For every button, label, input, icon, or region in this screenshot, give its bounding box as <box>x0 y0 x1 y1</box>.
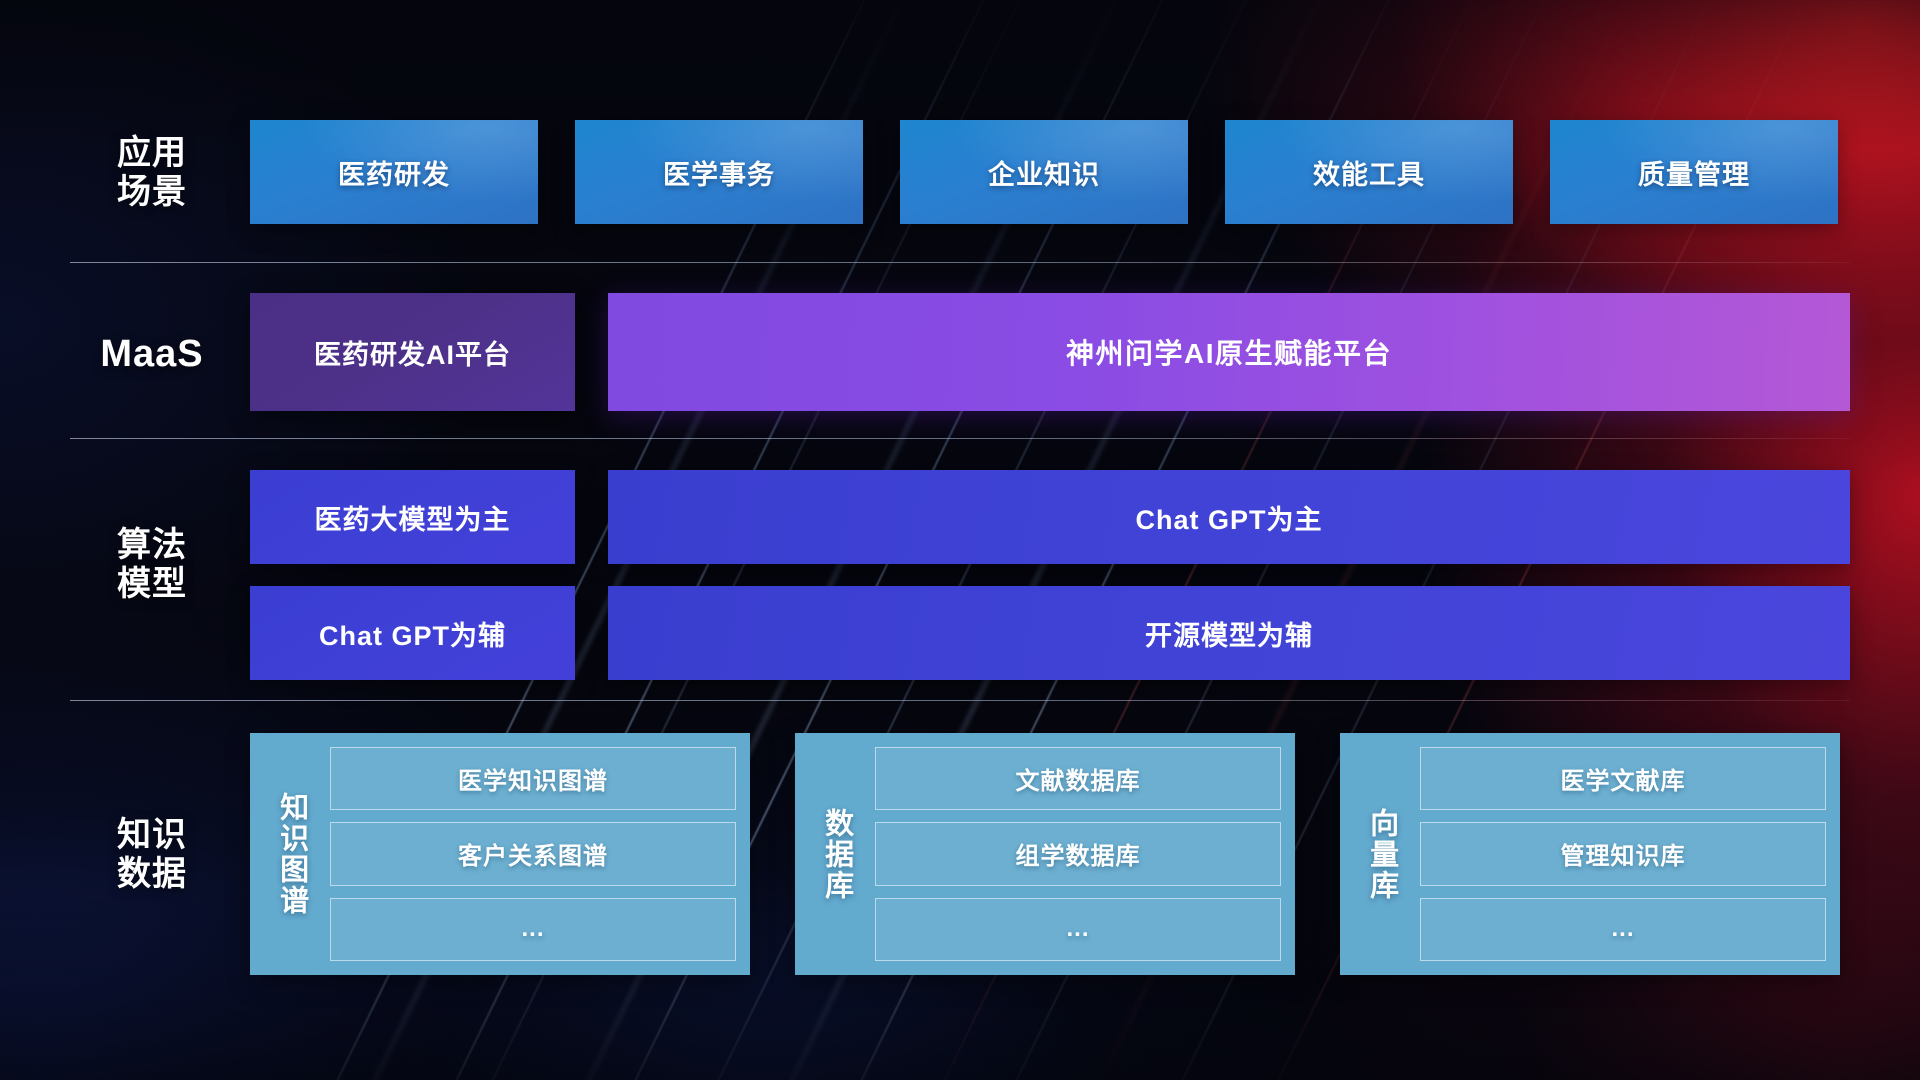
knowledge-item-list: 医学知识图谱 客户关系图谱 ... <box>330 747 736 961</box>
algorithm-box-opensource-secondary[interactable]: 开源模型为辅 <box>608 586 1850 680</box>
maas-box-label: 医药研发AI平台 <box>314 333 511 372</box>
layer-label-application-line1: 应用 <box>117 134 187 173</box>
layer-label-algorithm-line2: 模型 <box>117 565 187 604</box>
algorithm-row-secondary: Chat GPT为辅 开源模型为辅 <box>250 586 1850 680</box>
maas-row: 医药研发AI平台 神州问学AI原生赋能平台 <box>250 293 1850 411</box>
layer-label-knowledge: 知识 数据 <box>92 800 212 910</box>
knowledge-item[interactable]: 医学知识图谱 <box>330 747 736 810</box>
algorithm-box-chatgpt-secondary[interactable]: Chat GPT为辅 <box>250 586 575 680</box>
algorithm-box-label: Chat GPT为辅 <box>319 614 506 653</box>
knowledge-group-vector-store[interactable]: 向量库 医学文献库 管理知识库 ... <box>1340 733 1840 975</box>
knowledge-item-list: 医学文献库 管理知识库 ... <box>1420 747 1826 961</box>
layer-label-application-line2: 场景 <box>117 173 187 212</box>
algorithm-box-label: 开源模型为辅 <box>1145 614 1313 653</box>
knowledge-item[interactable]: ... <box>330 898 736 961</box>
divider-algorithm-knowledge <box>70 700 1850 701</box>
algorithm-box-medicine-llm-primary[interactable]: 医药大模型为主 <box>250 470 575 564</box>
app-box-label: 医学事务 <box>663 153 775 192</box>
knowledge-item[interactable]: 组学数据库 <box>875 822 1281 885</box>
layer-label-algorithm: 算法 模型 <box>92 510 212 620</box>
layer-label-algorithm-line1: 算法 <box>117 526 187 565</box>
knowledge-group-label: 向量库 <box>1350 747 1412 961</box>
algorithm-box-chatgpt-primary[interactable]: Chat GPT为主 <box>608 470 1850 564</box>
maas-box-shenzhou-wenxue-platform[interactable]: 神州问学AI原生赋能平台 <box>608 293 1850 411</box>
knowledge-item[interactable]: 客户关系图谱 <box>330 822 736 885</box>
knowledge-group-label: 知识图谱 <box>260 747 322 961</box>
app-box-medical-affairs[interactable]: 医学事务 <box>575 120 863 224</box>
app-box-efficiency-tools[interactable]: 效能工具 <box>1225 120 1513 224</box>
algorithm-row-primary: 医药大模型为主 Chat GPT为主 <box>250 470 1850 564</box>
app-box-enterprise-knowledge[interactable]: 企业知识 <box>900 120 1188 224</box>
app-box-label: 质量管理 <box>1638 153 1750 192</box>
algorithm-box-label: 医药大模型为主 <box>315 498 511 537</box>
divider-application-maas <box>70 262 1850 263</box>
architecture-diagram: 应用 场景 医药研发 医学事务 企业知识 效能工具 质量管理 MaaS 医药研发… <box>0 0 1920 1080</box>
layer-label-maas: MaaS <box>92 300 212 410</box>
maas-box-medicine-ai-platform[interactable]: 医药研发AI平台 <box>250 293 575 411</box>
layer-label-knowledge-line2: 数据 <box>117 855 187 894</box>
maas-box-label: 神州问学AI原生赋能平台 <box>1066 332 1392 372</box>
knowledge-item[interactable]: ... <box>875 898 1281 961</box>
knowledge-item[interactable]: 管理知识库 <box>1420 822 1826 885</box>
knowledge-group-knowledge-graph[interactable]: 知识图谱 医学知识图谱 客户关系图谱 ... <box>250 733 750 975</box>
app-box-quality-management[interactable]: 质量管理 <box>1550 120 1838 224</box>
knowledge-item[interactable]: 文献数据库 <box>875 747 1281 810</box>
knowledge-item[interactable]: 医学文献库 <box>1420 747 1826 810</box>
knowledge-group-label: 数据库 <box>805 747 867 961</box>
knowledge-item-list: 文献数据库 组学数据库 ... <box>875 747 1281 961</box>
app-box-label: 医药研发 <box>338 153 450 192</box>
layer-label-maas-line1: MaaS <box>100 333 203 376</box>
knowledge-item[interactable]: ... <box>1420 898 1826 961</box>
knowledge-group-database[interactable]: 数据库 文献数据库 组学数据库 ... <box>795 733 1295 975</box>
layer-label-knowledge-line1: 知识 <box>117 816 187 855</box>
app-box-label: 效能工具 <box>1313 153 1425 192</box>
app-box-medicine-rd[interactable]: 医药研发 <box>250 120 538 224</box>
divider-maas-algorithm <box>70 438 1850 439</box>
app-box-label: 企业知识 <box>988 153 1100 192</box>
algorithm-box-label: Chat GPT为主 <box>1135 498 1322 537</box>
application-row: 医药研发 医学事务 企业知识 效能工具 质量管理 <box>250 120 1850 224</box>
layer-label-application: 应用 场景 <box>92 118 212 228</box>
